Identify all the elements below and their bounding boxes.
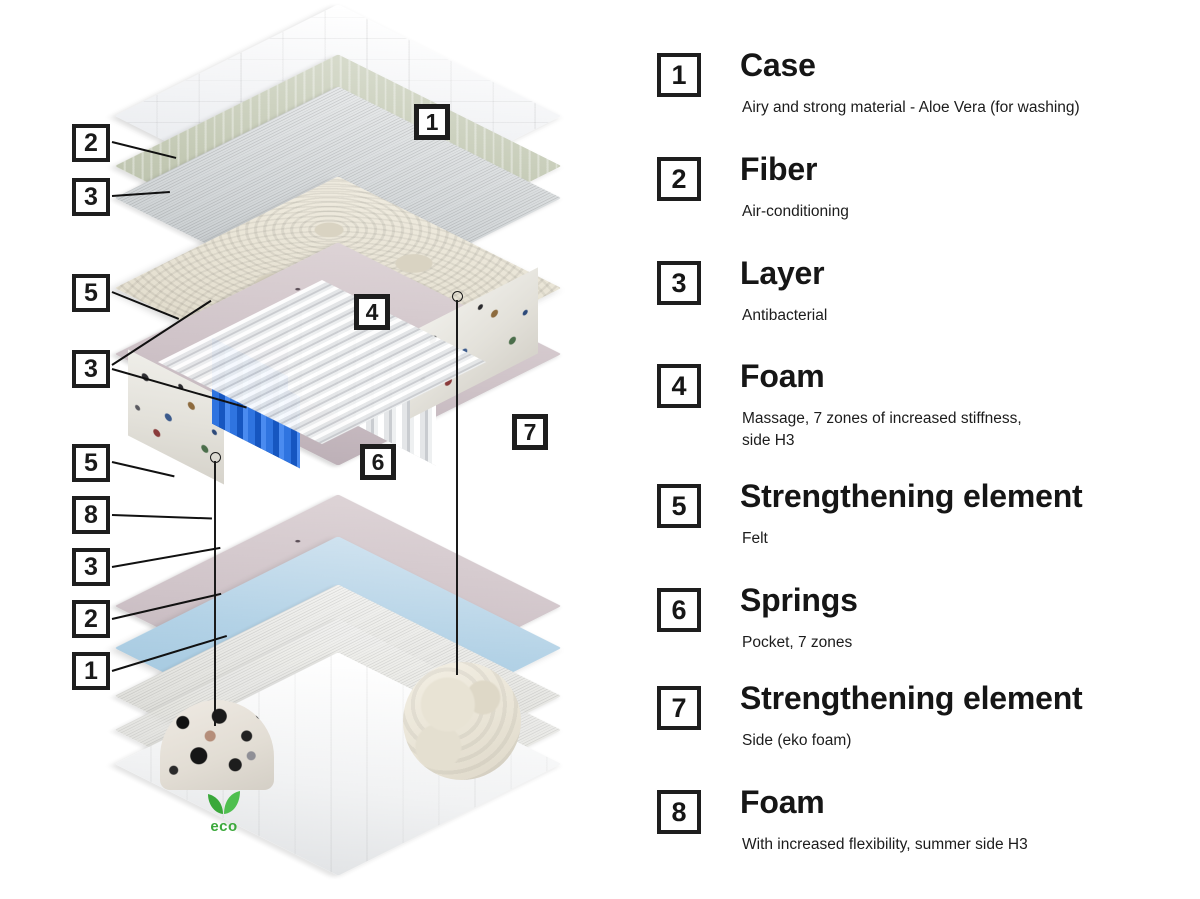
callout-1-bottom[interactable]: 1: [72, 652, 110, 690]
legend-list: 1 Case Airy and strong material - Aloe V…: [640, 0, 1200, 899]
legend-desc-4: Massage, 7 zones of increased stiffness,…: [742, 408, 1022, 453]
eco-label: eco: [196, 819, 252, 834]
legend-desc-1: Airy and strong material - Aloe Vera (fo…: [742, 97, 1080, 119]
diagram-page: eco 2 3 5 3 5 8 3 2 1 1 4 7 6 1 Case Air…: [0, 0, 1200, 899]
foam-leader-line: [456, 300, 458, 675]
legend-desc-5: Felt: [742, 528, 768, 550]
legend-number-3: 3: [657, 261, 701, 305]
legend-number-6: 6: [657, 588, 701, 632]
legend-title-1: Case: [740, 47, 816, 84]
callout-5-upper[interactable]: 5: [72, 274, 110, 312]
inline-number-4[interactable]: 4: [354, 294, 390, 330]
legend-number-5: 5: [657, 484, 701, 528]
leaf-icon: [206, 786, 242, 816]
callout-3-bottom[interactable]: 3: [72, 548, 110, 586]
callout-2-bottom[interactable]: 2: [72, 600, 110, 638]
legend-number-1: 1: [657, 53, 701, 97]
massage-foam-detail-circle: [403, 662, 521, 780]
legend-number-2: 2: [657, 157, 701, 201]
callout-5-lower[interactable]: 5: [72, 444, 110, 482]
callout-8[interactable]: 8: [72, 496, 110, 534]
legend-title-5: Strengthening element: [740, 478, 1083, 515]
legend-number-7: 7: [657, 686, 701, 730]
callout-3-mid[interactable]: 3: [72, 350, 110, 388]
legend-title-6: Springs: [740, 582, 858, 619]
inline-number-7[interactable]: 7: [512, 414, 548, 450]
legend-title-4: Foam: [740, 358, 825, 395]
inline-number-1[interactable]: 1: [414, 104, 450, 140]
legend-title-2: Fiber: [740, 151, 817, 188]
inline-number-6[interactable]: 6: [360, 444, 396, 480]
legend-title-8: Foam: [740, 784, 825, 821]
legend-title-7: Strengthening element: [740, 680, 1083, 717]
legend-desc-2: Air-conditioning: [742, 201, 849, 223]
eco-badge: eco: [196, 786, 252, 836]
eco-leader-dot: [210, 452, 221, 463]
legend-desc-7: Side (eko foam): [742, 730, 851, 752]
spring-core-block: [110, 352, 540, 537]
legend-desc-8: With increased flexibility, summer side …: [742, 834, 1028, 856]
legend-desc-3: Antibacterial: [742, 305, 827, 327]
legend-number-4: 4: [657, 364, 701, 408]
foam-leader-dot: [452, 291, 463, 302]
legend-title-3: Layer: [740, 255, 824, 292]
legend-desc-6: Pocket, 7 zones: [742, 632, 852, 654]
callout-3-top[interactable]: 3: [72, 178, 110, 216]
callout-2-top[interactable]: 2: [72, 124, 110, 162]
legend-number-8: 8: [657, 790, 701, 834]
